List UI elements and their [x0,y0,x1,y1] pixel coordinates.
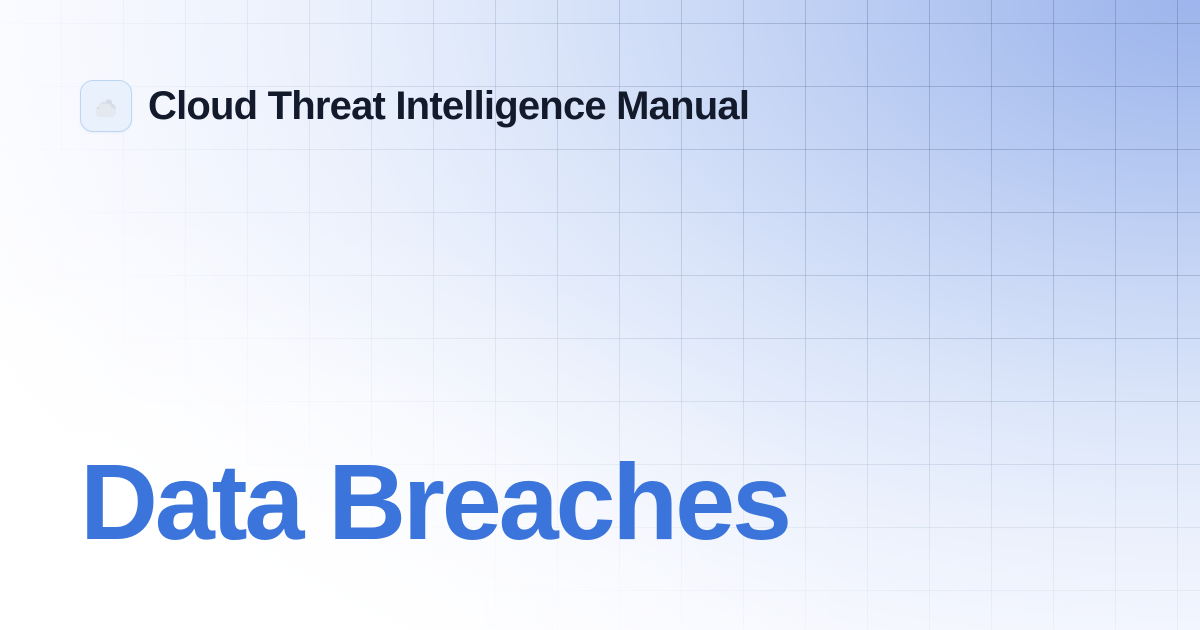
page-title: Data Breaches [80,448,789,556]
manual-title: Cloud Threat Intelligence Manual [148,86,749,126]
cover-card: Cloud Threat Intelligence Manual Data Br… [0,0,1200,630]
cover-content: Cloud Threat Intelligence Manual Data Br… [0,0,1200,630]
brand-badge [80,80,132,132]
cloud-icon [91,91,121,121]
brand-lockup: Cloud Threat Intelligence Manual [80,80,749,132]
